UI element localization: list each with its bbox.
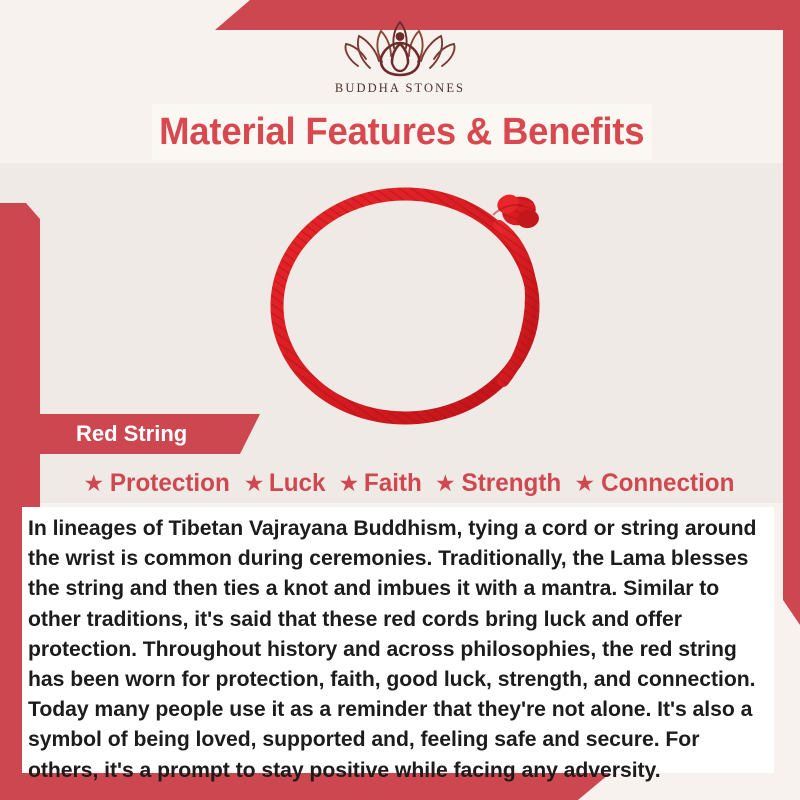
- benefit-item: ★ Luck: [244, 469, 327, 498]
- benefit-item: ★ Strength: [435, 469, 562, 498]
- star-icon: ★: [83, 472, 104, 495]
- benefit-label: Strength: [461, 469, 561, 498]
- star-icon: ★: [574, 472, 595, 495]
- brand-name: BUDDHA STONES: [0, 81, 800, 96]
- benefit-item: ★ Faith: [339, 469, 423, 498]
- benefit-label: Connection: [601, 469, 734, 498]
- benefit-label: Protection: [110, 469, 230, 498]
- section-ribbon: Red String: [40, 414, 260, 454]
- lotus-meditation-icon: [334, 18, 466, 80]
- benefit-label: Faith: [364, 469, 422, 498]
- star-icon: ★: [244, 472, 265, 495]
- benefits-list: ★ Protection ★ Luck ★ Faith ★ Strength ★…: [40, 464, 780, 502]
- title-banner: Material Features & Benefits: [152, 104, 652, 160]
- brand-logo: BUDDHA STONES: [0, 18, 800, 96]
- description-text: In lineages of Tibetan Vajrayana Buddhis…: [28, 513, 762, 785]
- benefit-label: Luck: [269, 469, 326, 498]
- description-panel: In lineages of Tibetan Vajrayana Buddhis…: [22, 507, 774, 773]
- star-icon: ★: [435, 472, 456, 495]
- section-ribbon-label: Red String: [76, 421, 187, 447]
- red-string-bracelet-illustration: [247, 163, 577, 428]
- infographic-page: BUDDHA STONES Material Features & Benefi…: [0, 0, 800, 800]
- star-icon: ★: [339, 472, 360, 495]
- product-image: [40, 163, 783, 428]
- benefit-item: ★ Protection: [83, 469, 231, 498]
- benefit-item: ★ Connection: [574, 469, 736, 498]
- page-title: Material Features & Benefits: [159, 111, 644, 154]
